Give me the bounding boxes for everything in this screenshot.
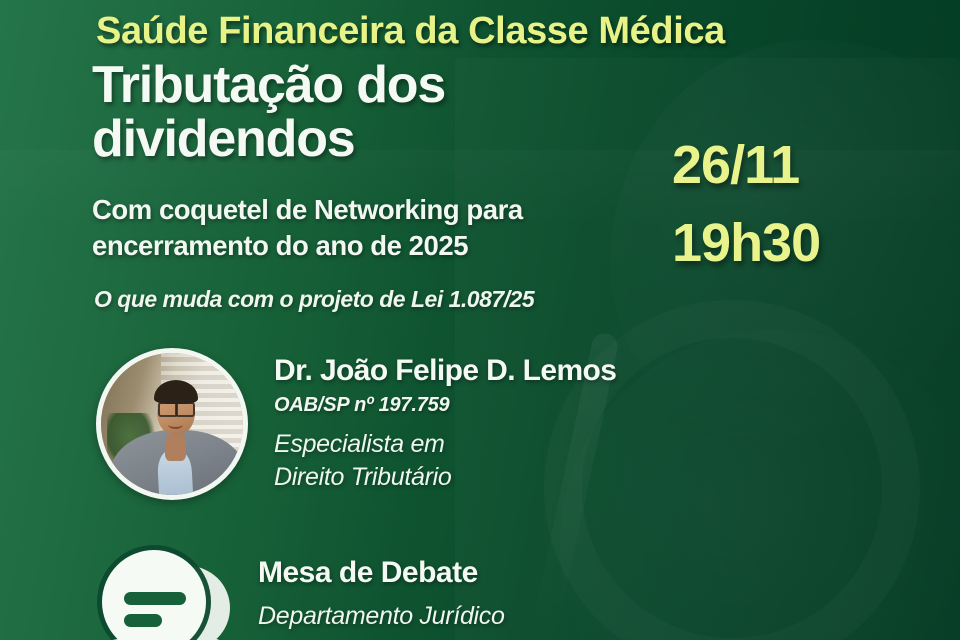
poster-headline: Tributação dos dividendos [92,58,652,166]
speech-bubble-line-1 [124,592,186,605]
poster-tagline: O que muda com o projeto de Lei 1.087/25 [94,286,534,313]
speaker-role: Especialista em Direito Tributário [274,428,616,495]
event-time: 19h30 [672,204,922,282]
avatar-glasses [158,400,195,413]
subhead-line-1: Com coquetel de Networking para [92,194,523,225]
speaker-avatar [96,348,248,500]
event-date: 26/11 [672,126,922,204]
speaker-role-line-2: Direito Tributário [274,461,616,495]
speech-bubbles-icon [100,548,230,640]
speaker-details: Dr. João Felipe D. Lemos OAB/SP nº 197.7… [274,348,616,495]
debate-subtitle: Departamento Jurídico [258,602,505,631]
event-datetime: 26/11 19h30 [672,126,922,283]
subhead-line-2: encerramento do ano de 2025 [92,230,468,261]
avatar-neck [165,435,186,461]
avatar-smile [168,420,184,429]
speaker-block: Dr. João Felipe D. Lemos OAB/SP nº 197.7… [96,348,616,500]
poster-subhead: Com coquetel de Networking para encerram… [92,192,662,265]
debate-block: Mesa de Debate Departamento Jurídico [100,548,505,640]
headline-line-1: Tributação dos [92,56,445,114]
speech-bubble-line-2 [124,614,162,627]
speaker-role-line-1: Especialista em [274,428,616,462]
debate-title: Mesa de Debate [258,556,505,590]
poster-eyebrow: Saúde Financeira da Classe Médica [96,10,725,53]
poster-content: Saúde Financeira da Classe Médica Tribut… [0,0,960,640]
speaker-registration: OAB/SP nº 197.759 [274,394,616,417]
speaker-name: Dr. João Felipe D. Lemos [274,354,616,388]
debate-details: Mesa de Debate Departamento Jurídico [258,548,505,631]
headline-line-2: dividendos [92,112,652,166]
event-poster: Saúde Financeira da Classe Médica Tribut… [0,0,960,640]
